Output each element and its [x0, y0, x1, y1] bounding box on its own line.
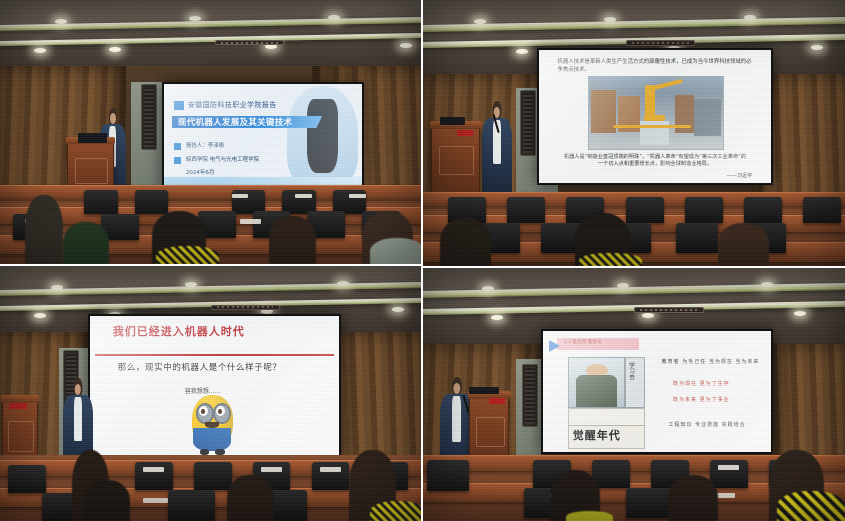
audience-member: [566, 511, 612, 521]
projector-screen: 机器人技术是革新人类生产生活方式的颠覆性技术，已成为当今世界科技领域的必争焦点技…: [537, 48, 773, 185]
slide-calligraphy: 觉醒年代: [573, 430, 621, 441]
slide-speaker: 报告人：李泽彬: [186, 144, 225, 150]
slide-heading: 我们已经进入机器人时代: [113, 326, 245, 337]
slide-affiliation: 皖西学院 电气与光电工程学院: [186, 158, 259, 164]
slide-line-2: 既为现在 更为了生存: [673, 382, 730, 387]
slide-body-text: 机器人技术是革新人类生产生活方式的颠覆性技术，已成为当今世界科技领域的必争焦点技…: [558, 58, 753, 74]
minion-figure: [190, 395, 235, 451]
projector-screen: 我们已经进入机器人时代 那么，现实中的机器人是个什么样子呢？ 容我想想……: [88, 314, 340, 458]
audience-member: [227, 475, 273, 521]
slide-banner-text: 3.3 着急得 着急号: [564, 341, 602, 346]
projector-screen: 安徽国防科技职业学院报告 现代机器人发展及其关键技术 报告人：李泽彬 皖西学院 …: [162, 82, 364, 192]
audience-member: [156, 246, 219, 264]
audience-member: [25, 195, 63, 264]
presenter: [482, 101, 512, 194]
slide-portrait-label: 学习去: [627, 362, 633, 380]
projector-screen: 3.3 着急得 着急号 学习去 觉醒年代 教育者 为毛己任 当为现在 当为未来 …: [541, 329, 773, 454]
lectern-name-tag: [9, 403, 27, 409]
audience-member: [668, 475, 719, 521]
audience-member: [370, 501, 421, 521]
slide-subtitle: 那么，现实中的机器人是个什么样子呢？: [118, 364, 282, 373]
lectern-name-tag: [489, 398, 504, 404]
photo-collage: 安徽国防科技职业学院报告 现代机器人发展及其关键技术 报告人：李泽彬 皖西学院 …: [0, 0, 845, 521]
slide-line-4: 工程知识 专业技能 实践结合: [668, 423, 745, 428]
audience-member: [579, 253, 642, 266]
panel-top-right: 机器人技术是革新人类生产生活方式的颠覆性技术，已成为当今世界科技领域的必争焦点技…: [423, 0, 845, 266]
lectern: [431, 125, 479, 194]
audience-member: [440, 218, 491, 266]
panel-top-left: 安徽国防科技职业学院报告 现代机器人发展及其关键技术 报告人：李泽彬 皖西学院 …: [0, 0, 421, 264]
audience-member: [718, 223, 769, 266]
audience-member: [269, 216, 315, 264]
audience-member: [84, 480, 130, 521]
audience-member: [370, 238, 421, 264]
lectern-name-tag: [457, 130, 473, 136]
slide-portrait: [568, 357, 625, 408]
slide-date: 2024年6月: [186, 171, 215, 177]
panel-bottom-left: 我们已经进入机器人时代 那么，现实中的机器人是个什么样子呢？ 容我想想……: [0, 266, 421, 521]
slide-attribution: ——习近平: [727, 174, 753, 179]
slide-quote: 机器人是“制造业皇冠顶端的明珠”，“机器人革命”有望成为“第三次工业革命”的一个…: [562, 154, 748, 170]
slide-host-line: 安徽国防科技职业学院报告: [188, 102, 277, 109]
ceiling: [0, 0, 421, 71]
audience-member: [777, 491, 845, 521]
slide-title: 现代机器人发展及其关键技术: [178, 119, 292, 128]
slide-line-1: 教育者 为毛己任 当为现在 当为未来: [662, 360, 760, 365]
panel-bottom-right: 3.3 着急得 着急号 学习去 觉醒年代 教育者 为毛己任 当为现在 当为未来 …: [423, 268, 845, 521]
slide-line-3: 既为未来 更为了事业: [673, 398, 730, 403]
audience-member: [63, 222, 109, 264]
